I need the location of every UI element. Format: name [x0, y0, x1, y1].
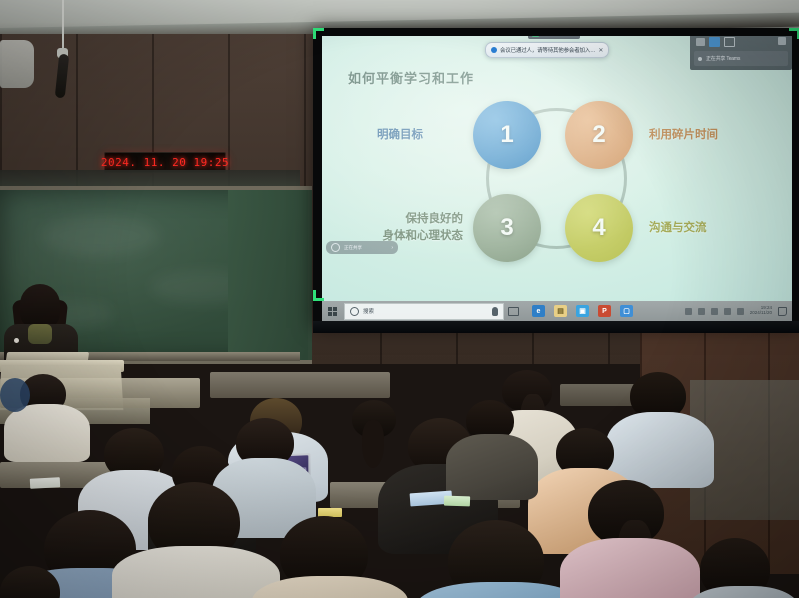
classroom-photo: 2024. 11. 20 19:25 如何平衡学习和工作 1 2 — [0, 0, 799, 598]
taskbar-app-powerpoint[interactable]: P — [598, 305, 611, 317]
student-torso — [446, 434, 538, 500]
chalkboard-side-panel — [228, 190, 312, 360]
window-tab-chip[interactable]: 线上生死课现场 — [528, 36, 580, 39]
share-status-panel[interactable]: 正在共享 Teams — [690, 36, 792, 70]
share-pill-label: 正在共享 — [344, 245, 362, 251]
volume-icon[interactable] — [724, 308, 731, 315]
presenter-scarf — [28, 324, 52, 344]
screen-corner-marker-tl — [313, 28, 324, 39]
slide-title: 如何平衡学习和工作 — [348, 68, 474, 87]
paper-sheet — [30, 477, 60, 489]
presenter-badge — [14, 338, 19, 343]
microphone-icon[interactable] — [492, 307, 498, 316]
led-clock-text: 2024. 11. 20 19:25 — [101, 156, 229, 169]
diagram-circle-1[interactable]: 1 — [473, 101, 541, 169]
paper-sheet — [444, 496, 470, 507]
student-ponytail — [362, 420, 384, 468]
windows-taskbar[interactable]: 搜索 e ▤ ▣ P ▢ 19:24 2024/11 — [322, 301, 792, 321]
share-status-text: 正在共享 Teams — [706, 55, 740, 62]
diagram-label-4: 沟通与交流 — [649, 220, 707, 237]
start-button[interactable] — [322, 301, 342, 321]
screen-bottom-bezel — [313, 321, 799, 333]
taskbar-app-meeting[interactable]: ▣ — [576, 305, 589, 317]
window-controls[interactable] — [696, 37, 735, 47]
system-tray[interactable]: 19:24 2024/11/20 — [685, 306, 792, 315]
powerpoint-slide: 如何平衡学习和工作 1 2 3 4 明确目标 利用碎片时间 保持良好的 身体和心… — [322, 36, 792, 301]
minimize-button[interactable] — [696, 38, 705, 46]
network-icon[interactable] — [698, 308, 705, 315]
diagram-circle-4[interactable]: 4 — [565, 194, 633, 262]
student-torso — [4, 404, 90, 462]
search-placeholder: 搜索 — [363, 307, 374, 315]
pen-icon[interactable] — [685, 308, 692, 315]
taskbar-clock[interactable]: 19:24 2024/11/20 — [750, 306, 772, 315]
student-head — [0, 378, 30, 412]
expand-chevron-icon[interactable]: › — [391, 245, 393, 251]
share-indicator-icon — [698, 57, 702, 61]
toast-message: 会议已通过人，请等待其他参会者加入… — [500, 46, 595, 54]
student-torso — [560, 538, 700, 598]
toast-status-icon — [491, 47, 497, 53]
student-torso — [688, 586, 799, 598]
stop-share-icon[interactable] — [331, 243, 340, 252]
taskbar-app-edge[interactable]: e — [532, 305, 545, 317]
diagram-circle-2[interactable]: 2 — [565, 101, 633, 169]
student-torso — [112, 546, 280, 598]
notification-icon[interactable] — [778, 307, 787, 316]
search-input[interactable]: 搜索 — [344, 303, 504, 320]
share-status-row: 正在共享 Teams — [694, 51, 788, 66]
presenter-hair-top — [20, 284, 60, 328]
notification-toast[interactable]: 会议已通过人，请等待其他参会者加入… ✕ — [485, 42, 609, 58]
refresh-icon[interactable] — [711, 308, 718, 315]
diagram-circle-3[interactable]: 3 — [473, 194, 541, 262]
search-icon — [350, 307, 359, 316]
maximize-button[interactable] — [709, 37, 720, 47]
screen-corner-marker-tr — [789, 28, 799, 39]
audience-seating: 学习笔记 课堂记录 — [0, 370, 799, 598]
taskbar-date: 2024/11/20 — [750, 311, 772, 316]
close-icon[interactable]: ✕ — [598, 47, 603, 54]
projected-desktop: 如何平衡学习和工作 1 2 3 4 明确目标 利用碎片时间 保持良好的 身体和心… — [322, 36, 792, 321]
desk-row-back-mid — [210, 372, 390, 398]
task-view-icon — [508, 307, 519, 316]
close-button[interactable] — [724, 37, 735, 47]
cloud-icon[interactable] — [737, 308, 744, 315]
diagram-label-2: 利用碎片时间 — [649, 127, 718, 144]
taskbar-app-secondary[interactable]: ▢ — [620, 305, 633, 317]
diagram-label-3: 保持良好的 身体和心理状态 — [368, 211, 463, 244]
menu-icon[interactable] — [778, 37, 786, 45]
wall-speaker — [0, 40, 34, 88]
windows-logo-icon — [328, 307, 337, 316]
screen-corner-marker-bl — [313, 290, 324, 301]
task-view-button[interactable] — [504, 301, 522, 321]
tab-label: 线上生死课现场 — [542, 36, 576, 37]
tab-app-icon — [532, 36, 539, 37]
share-control-pill[interactable]: 正在共享 › — [326, 241, 398, 254]
taskbar-app-file-explorer[interactable]: ▤ — [554, 305, 567, 317]
diagram-label-1: 明确目标 — [377, 127, 423, 144]
taskbar-apps[interactable]: e ▤ ▣ P ▢ — [532, 305, 633, 317]
